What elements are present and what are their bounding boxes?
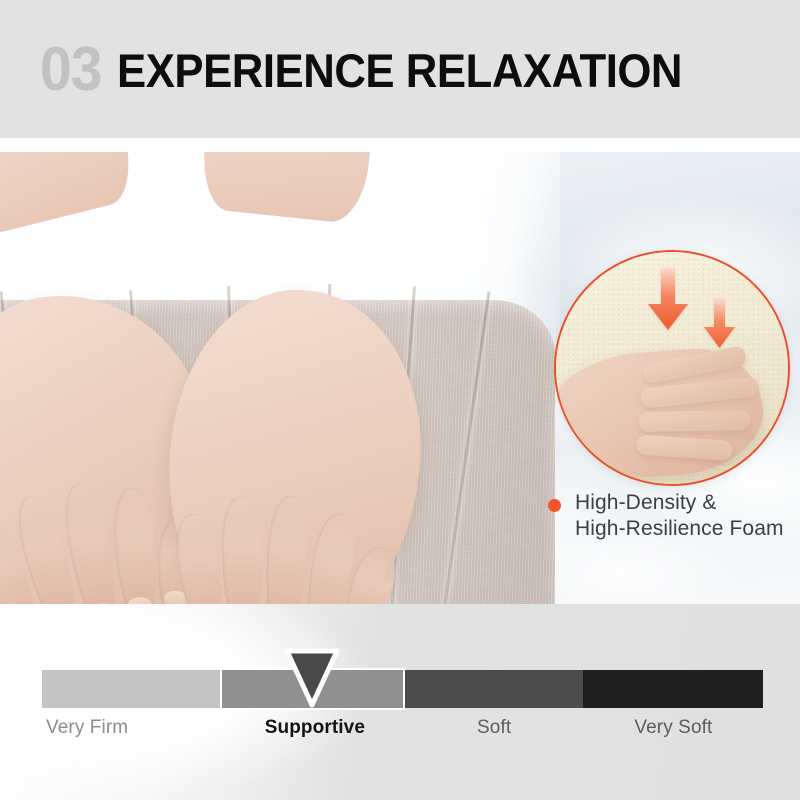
firmness-scale: Very Firm Supportive Soft Very Soft [42, 670, 763, 739]
finger [638, 410, 750, 432]
fingernail [127, 597, 152, 604]
header-divider [0, 138, 800, 152]
down-arrow-large-icon [648, 268, 688, 330]
cushion-image [0, 300, 555, 604]
feature-caption-text: High-Density & High-Resilience Foam [575, 490, 784, 543]
product-infographic-slide: 03 EXPERIENCE RELAXATION [0, 0, 800, 800]
firmness-segment-very-soft[interactable] [583, 670, 763, 708]
hero-photo: High-Density & High-Resilience Foam [0, 152, 800, 604]
firmness-label-very-soft: Very Soft [584, 717, 763, 739]
firmness-label-very-firm: Very Firm [42, 717, 225, 739]
firmness-segment-very-firm[interactable] [42, 670, 222, 708]
firmness-segment-soft[interactable] [403, 670, 583, 708]
finger [111, 486, 161, 604]
foam-detail-inset [554, 250, 790, 486]
firmness-bar [42, 670, 763, 708]
firmness-label-soft: Soft [405, 717, 584, 739]
header-band: 03 EXPERIENCE RELAXATION [0, 0, 800, 138]
finger [221, 496, 263, 604]
down-arrow-small-icon [704, 298, 735, 348]
firmness-label-supportive: Supportive [225, 717, 404, 739]
firmness-scale-section: Very Firm Supportive Soft Very Soft [0, 604, 800, 800]
finger [261, 494, 311, 604]
bullet-dot-icon [548, 499, 561, 512]
step-number: 03 [40, 39, 102, 101]
feature-caption: High-Density & High-Resilience Foam [548, 490, 784, 543]
header-content: 03 EXPERIENCE RELAXATION [40, 0, 725, 138]
finger [636, 434, 733, 461]
page-title: EXPERIENCE RELAXATION [117, 47, 682, 94]
firmness-segment-supportive[interactable] [222, 670, 402, 708]
firmness-labels: Very Firm Supportive Soft Very Soft [42, 717, 763, 739]
